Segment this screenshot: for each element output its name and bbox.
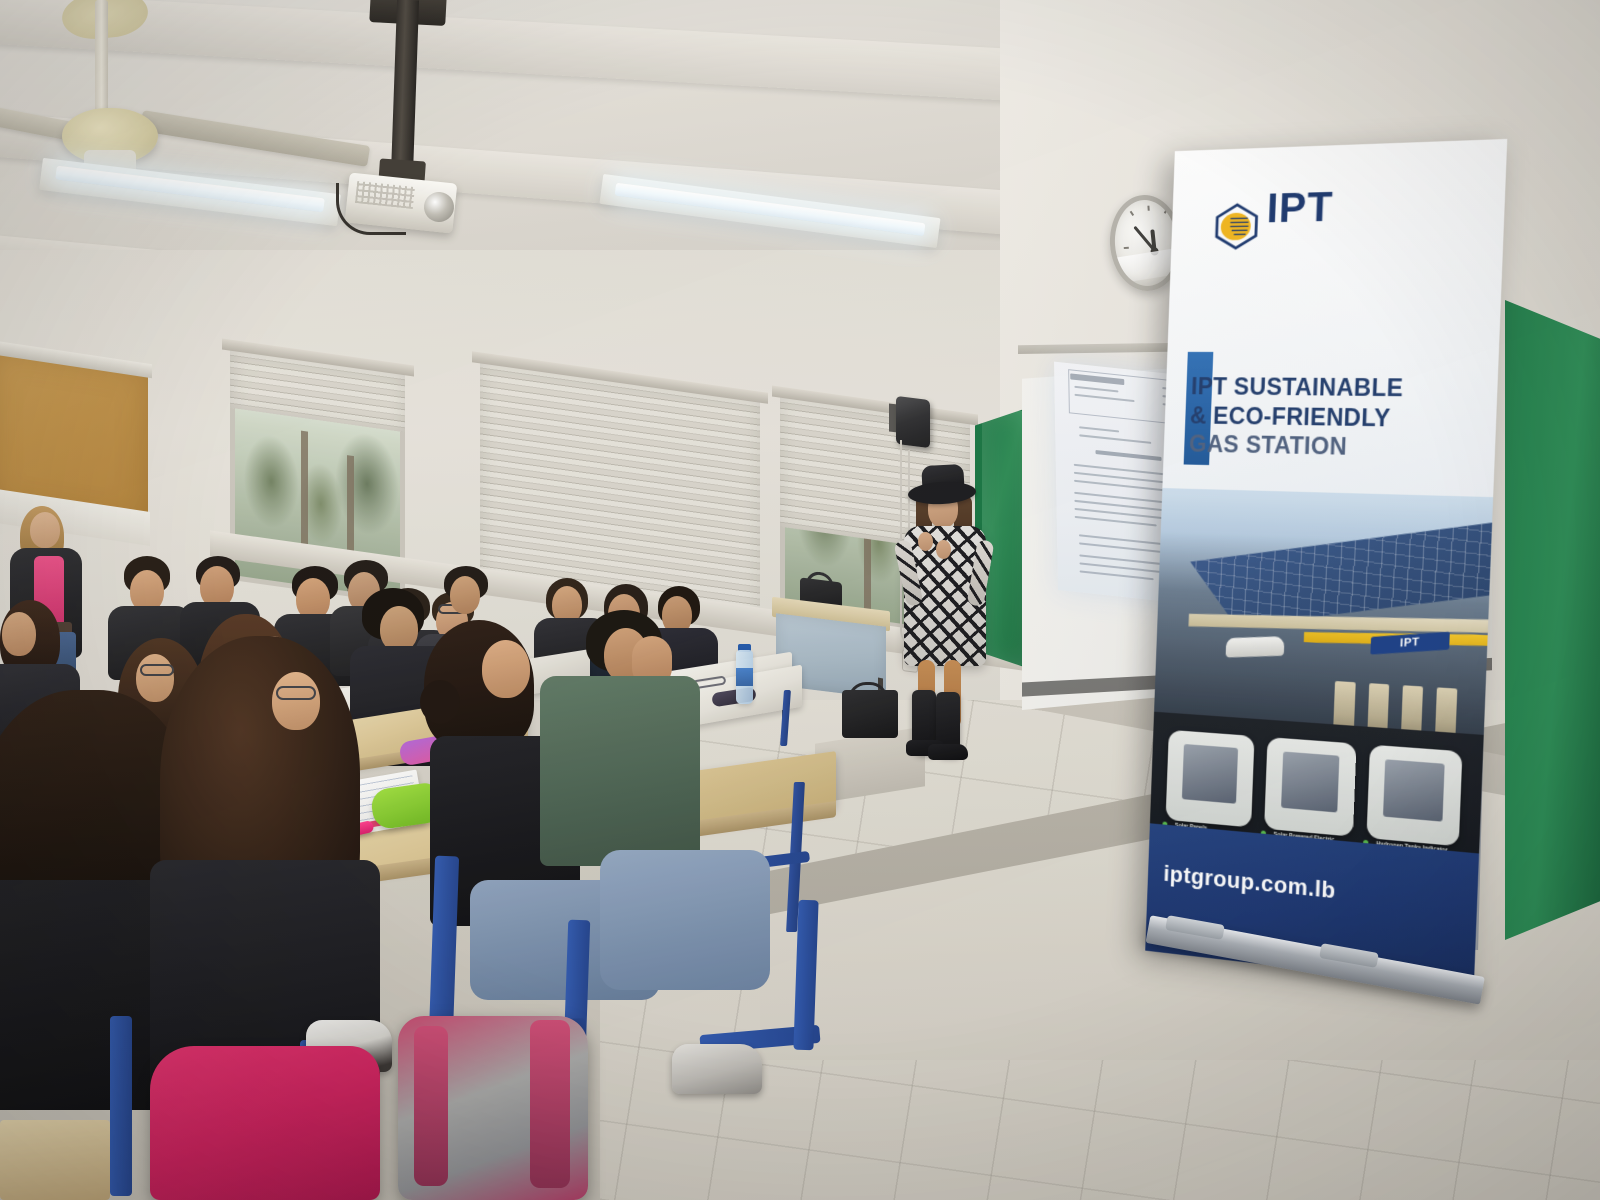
banner-headline-line1: IPT SUSTAINABLE [1191, 372, 1484, 404]
window-wall [150, 330, 890, 630]
backpack-strap [414, 1026, 448, 1186]
pink-jacket [150, 1046, 380, 1200]
desk-corner [0, 1120, 110, 1200]
presenter-hand [918, 532, 933, 551]
student-glasses [140, 664, 174, 676]
ipt-wordmark: IPT [1266, 184, 1334, 232]
grey-sneaker [672, 1044, 762, 1094]
ipt-mark-icon [1212, 191, 1262, 262]
black-floor-bag [842, 690, 898, 738]
pink-backpack [398, 1016, 588, 1200]
student-face [450, 576, 480, 614]
banner-headline: IPT SUSTAINABLE & ECO-FRIENDLY GAS STATI… [1189, 372, 1484, 464]
station-sign-text: IPT [1399, 636, 1419, 650]
hydrogen-pump-icon [1383, 759, 1444, 822]
student-face [2, 612, 36, 656]
student-face [136, 654, 174, 702]
student-jeans [600, 850, 770, 990]
ipt-rollup-banner: IPT IPT SUSTAINABLE & ECO-FRIENDLY GAS S… [1145, 139, 1507, 989]
presenter-boot-sole [928, 744, 968, 760]
feature-card-hydrogen [1366, 745, 1462, 846]
chair-frame [110, 1016, 132, 1196]
gas-station-render: IPT [1153, 488, 1493, 752]
banner-website-url: iptgroup.com.lb [1163, 860, 1336, 904]
student-hoodie [540, 676, 700, 866]
green-chalkboard-right [1505, 300, 1600, 940]
classroom-photo: IPT IPT SUSTAINABLE & ECO-FRIENDLY GAS S… [0, 0, 1600, 1200]
ev-charger-icon [1281, 751, 1340, 812]
student-face [482, 640, 530, 698]
student-face [272, 672, 320, 730]
bottle-label [736, 668, 753, 686]
presenter-hand [936, 540, 951, 559]
feature-card-solar-panels [1166, 730, 1255, 827]
station-ipt-sign: IPT [1370, 632, 1450, 655]
teacher-face [30, 512, 60, 548]
solar-panel-icon [1182, 744, 1239, 804]
student-glasses [276, 686, 316, 700]
white-car [1225, 636, 1284, 657]
student-hair-bun [420, 680, 460, 724]
feature-card-ev-charger [1264, 737, 1356, 836]
ipt-logo-icon: IPT [1211, 183, 1318, 267]
backpack-strap [530, 1020, 570, 1188]
